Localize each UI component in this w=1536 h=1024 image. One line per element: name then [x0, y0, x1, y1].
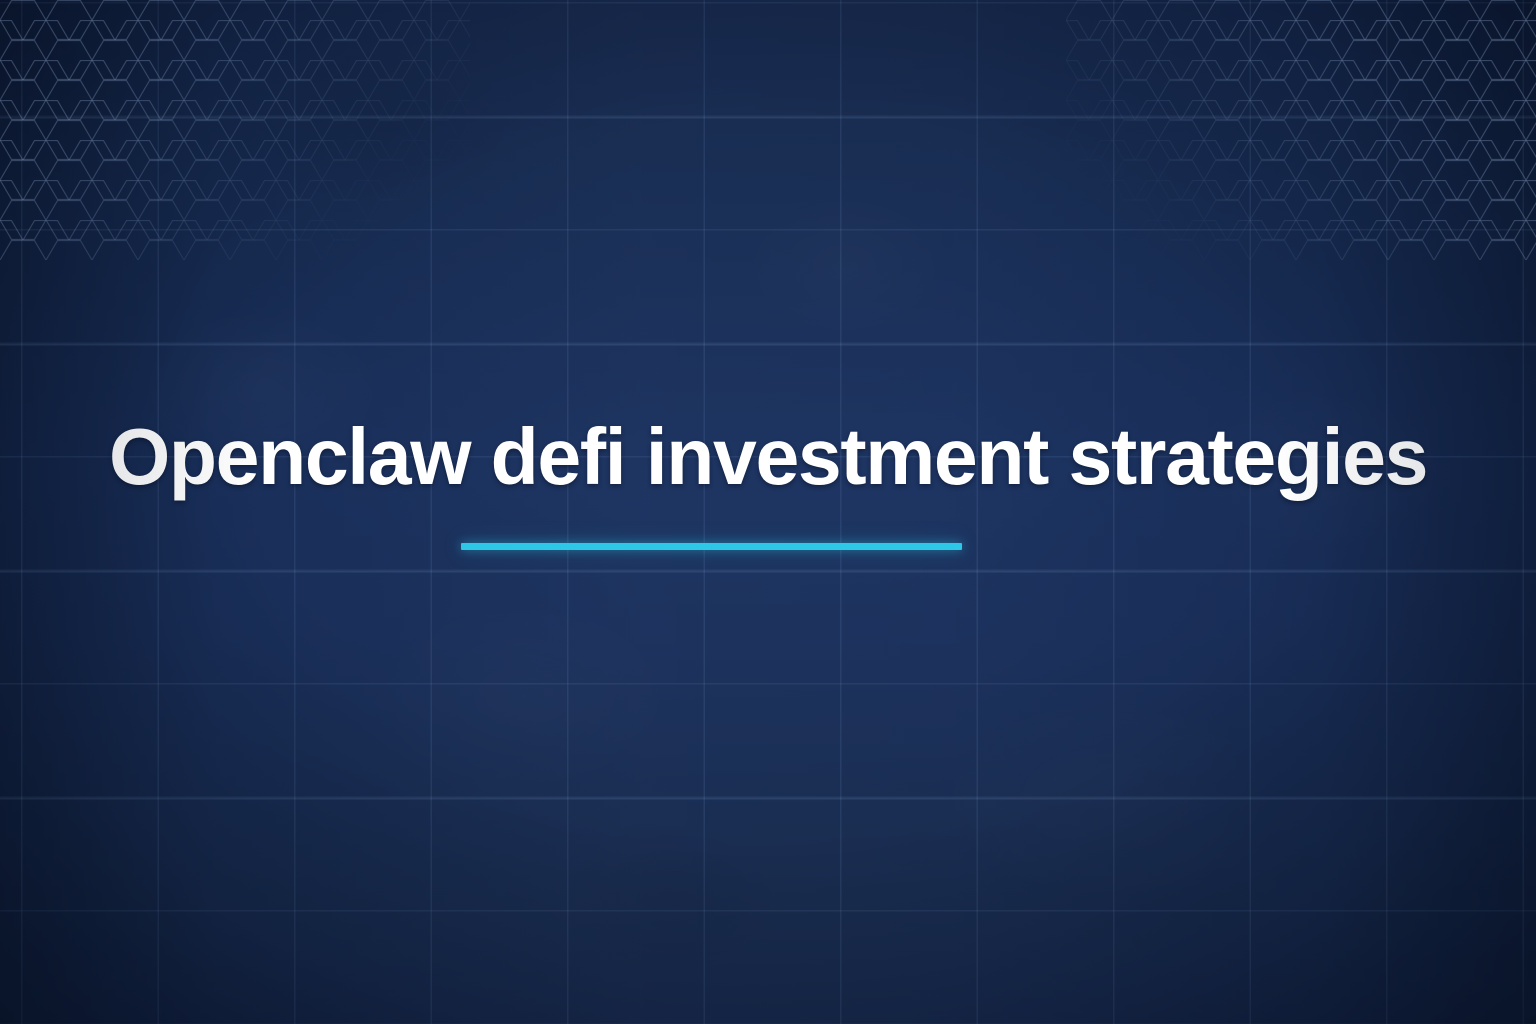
title-slide: Openclaw defi investment strategies: [0, 0, 1536, 1024]
page-title: Openclaw defi investment strategies: [12, 417, 1525, 497]
slide-content: Openclaw defi investment strategies: [0, 0, 1536, 1024]
title-accent-underline: [461, 543, 962, 550]
